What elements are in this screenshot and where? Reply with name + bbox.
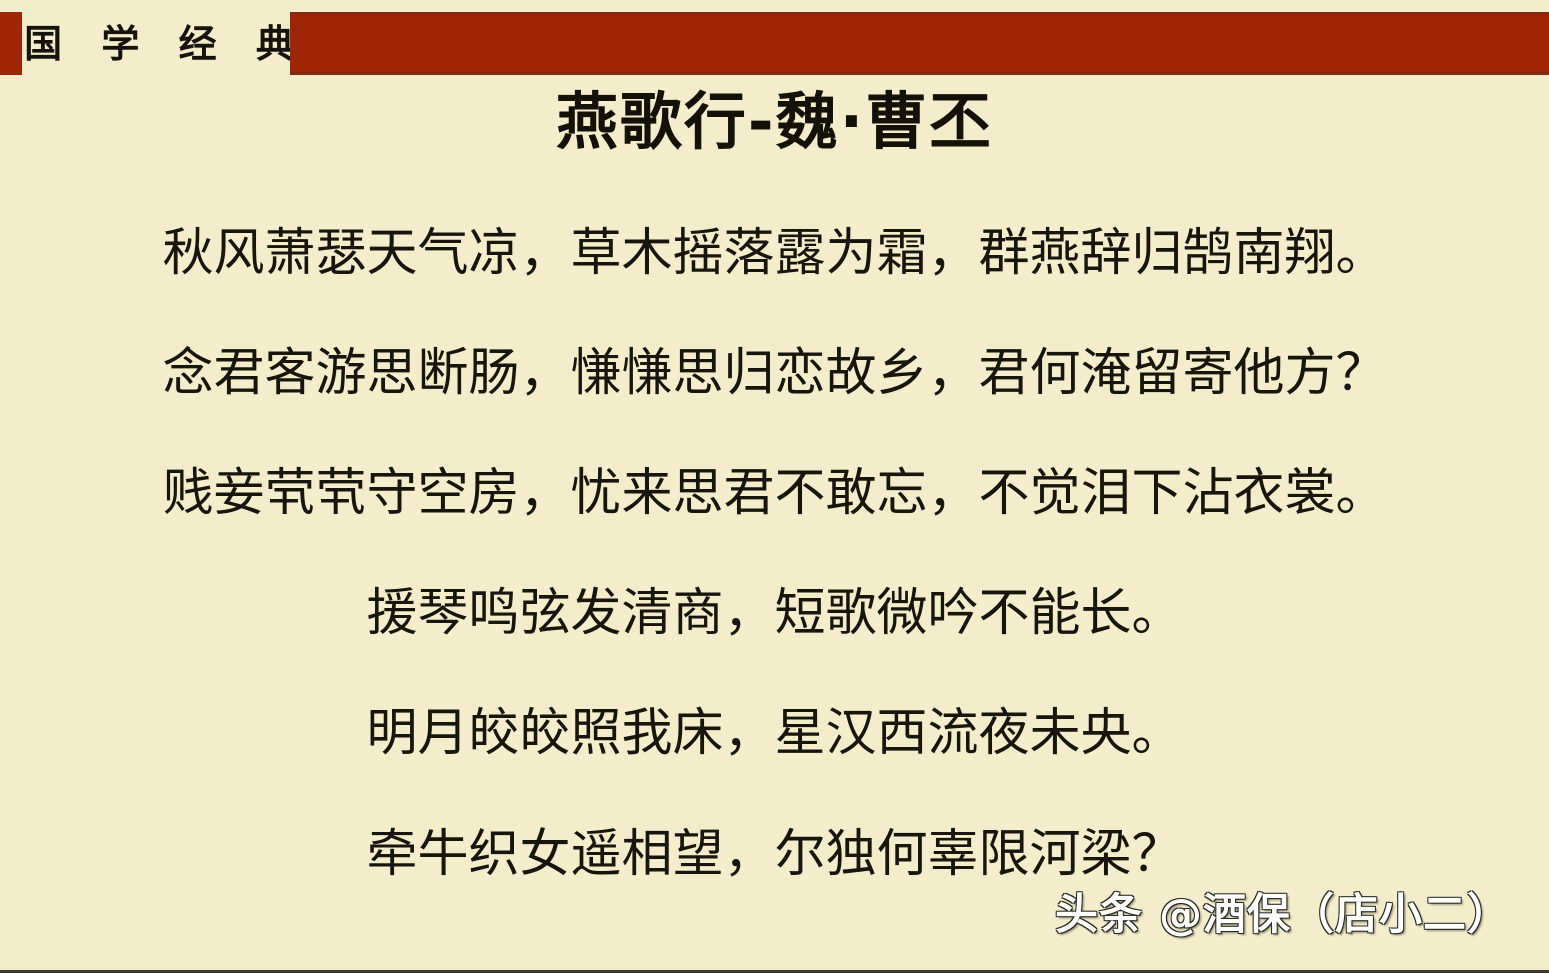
poem-line: 秋风萧瑟天气凉，草木摇落露为霜，群燕辞归鹄南翔。	[0, 225, 1549, 282]
banner-red-bar	[290, 12, 1549, 75]
poem-body: 秋风萧瑟天气凉，草木摇落露为霜，群燕辞归鹄南翔。 念君客游思断肠，慊慊思归恋故乡…	[0, 225, 1549, 883]
poem-slide: 国 学 经 典 燕歌行-魏·曹丕 秋风萧瑟天气凉，草木摇落露为霜，群燕辞归鹄南翔…	[0, 0, 1549, 973]
poem-line: 贱妾茕茕守空房，忧来思君不敢忘，不觉泪下沾衣裳。	[0, 465, 1549, 522]
poem-line: 援琴鸣弦发清商，短歌微吟不能长。	[0, 585, 1549, 642]
watermark: 头条 @酒保（店小二）	[1055, 880, 1511, 942]
page-title: 燕歌行-魏·曹丕	[0, 88, 1549, 156]
poem-line: 牵牛织女遥相望，尔独何辜限河梁？	[0, 826, 1549, 883]
poem-line: 念君客游思断肠，慊慊思归恋故乡，君何淹留寄他方？	[0, 345, 1549, 402]
poem-line: 明月皎皎照我床，星汉西流夜未央。	[0, 705, 1549, 762]
header-banner: 国 学 经 典	[0, 12, 1549, 75]
category-label: 国 学 经 典	[30, 12, 288, 75]
